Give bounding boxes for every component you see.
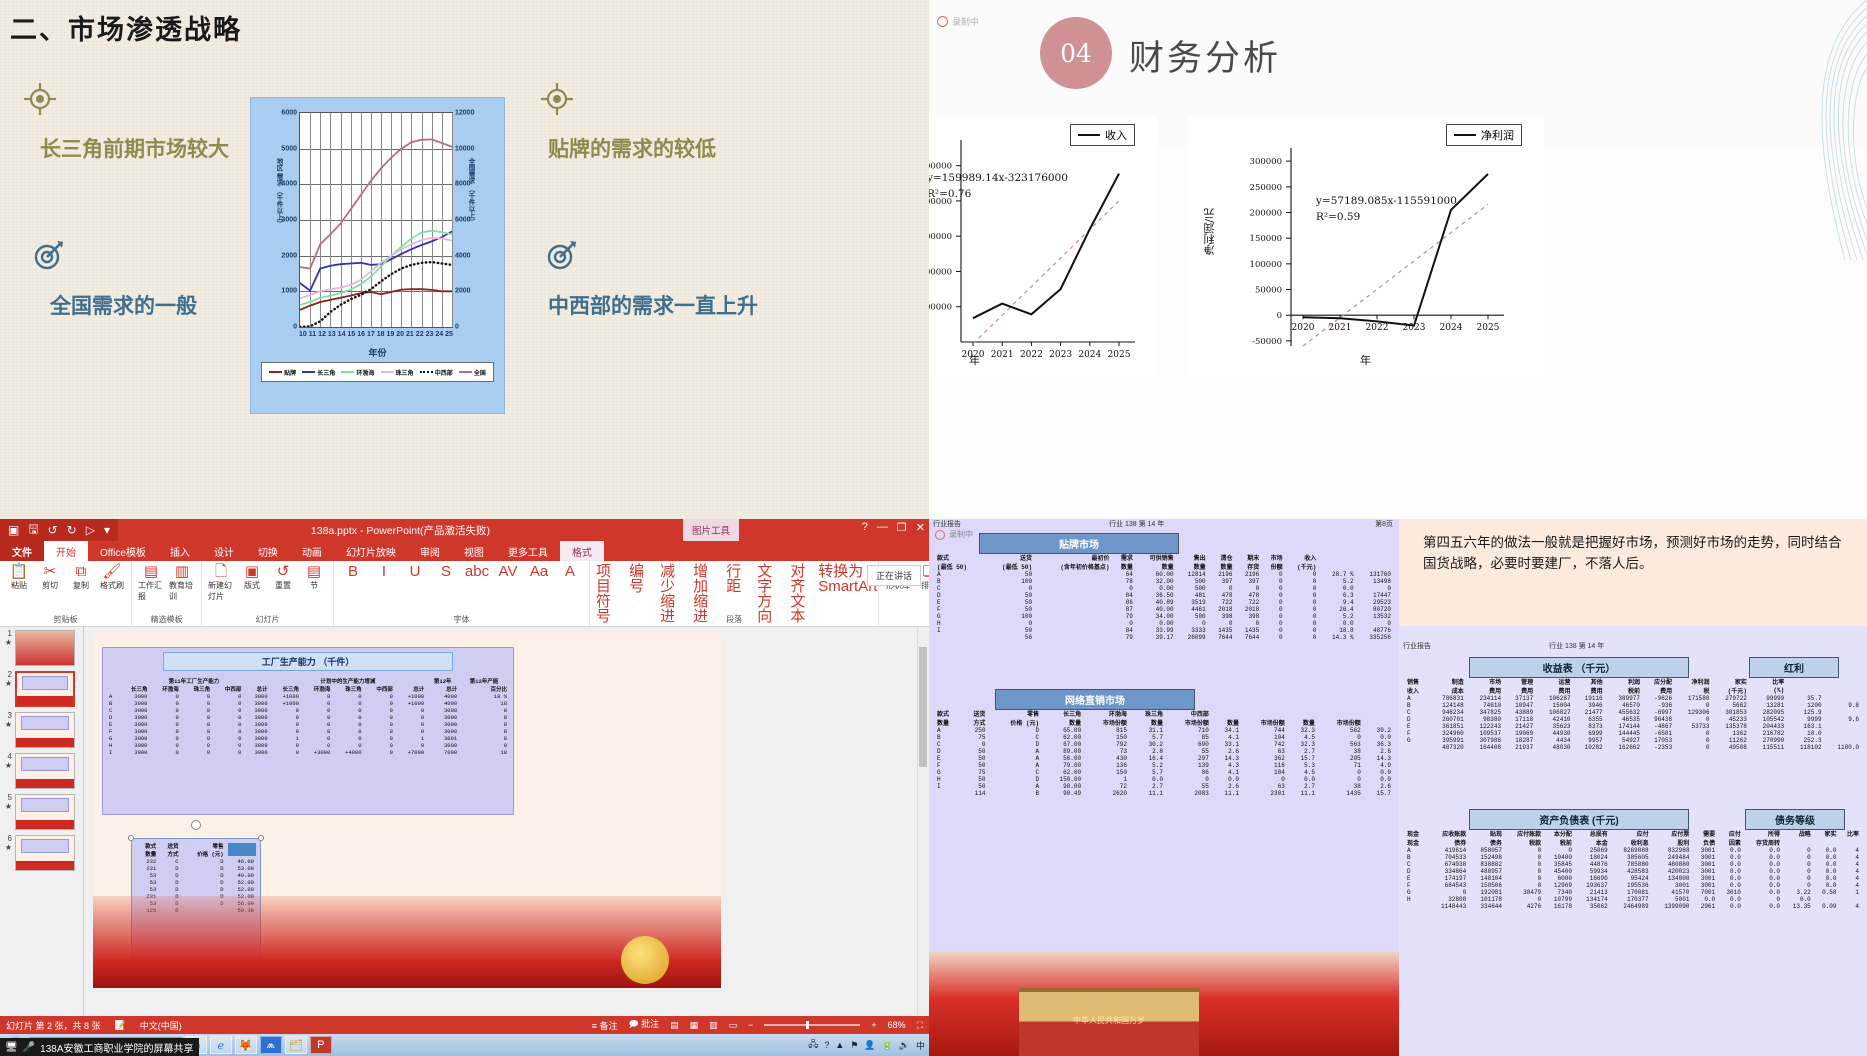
column-header [107,677,118,685]
table-cell: 361851 [1428,723,1465,730]
table-cell: 106287 [1535,695,1572,702]
ribbon-button-行距[interactable]: 行距 [726,564,752,594]
table-cell: 150.00 [1041,776,1083,783]
x-tick-label: 2022 [1020,350,1043,360]
ribbon-button-A[interactable]: A [557,564,583,579]
column-header: 运营 [1535,677,1572,686]
ribbon-button-Aa[interactable]: Aa [526,564,552,579]
table-cell: 0 [332,742,363,749]
canvas-scrollbar[interactable] [917,627,927,1016]
decorative-wave-lines [1747,0,1867,260]
net-profit-plot: -500000500001000001500002000002500003000… [1188,116,1544,376]
column-header: 家实 [1711,677,1748,686]
x-tick-label: 25 [445,331,453,338]
ribbon-tab-设计[interactable]: 设计 [202,541,246,561]
regional-demand-chart: 地区 需求 （千件以上） 全国需求 （千件以上） 010002000300040… [250,97,505,414]
x-tick-label: 2021 [1329,323,1352,333]
column-subheader: 百分比 [459,685,509,693]
table-cell: 430 [1083,755,1129,762]
ribbon-button-版式[interactable]: ▣版式 [239,564,265,591]
rotate-handle[interactable] [191,820,201,830]
ribbon-button-转换为SmartArt[interactable]: 转换为SmartArt [823,564,872,594]
firefox-icon[interactable]: 🦊 [235,1036,257,1054]
battery-icon[interactable]: 🔋 [882,1040,893,1051]
ribbon-tab-更多工具[interactable]: 更多工具 [496,541,560,561]
section-title-tiepai: 贴牌市场 [979,533,1179,554]
comments-button[interactable]: 🗩 批注 [629,1017,660,1033]
spellcheck-icon[interactable]: 📝 [115,1020,126,1031]
view-normal-icon[interactable]: ▤ [670,1020,679,1031]
slide-canvas[interactable]: 工厂生产能力 （千件） 第11年工厂生产能力计划中的生产能力增减第12年第12年… [84,627,929,1016]
table-cell: 32.00 [1135,578,1176,585]
table-cell: 0 [212,700,243,707]
table-cell: 7000 [426,749,459,756]
column-subheader: 珠三角 [181,685,212,693]
powerpoint-icon[interactable]: P [310,1036,332,1054]
ribbon-button-S[interactable]: S [433,564,459,579]
table-cell: 0 [1176,620,1208,627]
notes-button[interactable]: ≡ 备注 [592,1019,618,1032]
system-tray[interactable]: 🖧 ? ▲ ⚑ 👤 🔋 🔊 中 [808,1037,925,1053]
table-cell: 46535 [1605,716,1642,723]
zoom-level[interactable]: 68% [888,1020,906,1030]
ribbon-button-AV[interactable]: AV [495,564,521,579]
show-hidden-icons-icon[interactable]: ▲ [835,1040,844,1050]
table-cell: 2.6 [1363,783,1393,790]
剪切-icon: ✂ [44,564,57,579]
table-cell: 0 [364,749,395,756]
table-cell: B [107,700,118,707]
table-cell: 1200 [1786,702,1823,709]
ribbon-button-abc[interactable]: abc [464,564,490,579]
thumbnail-number: 4 ★ [2,753,12,771]
ribbon-button-教育培训[interactable]: ▥教育培训 [169,564,195,602]
table-cell: 0 [364,742,395,749]
table-cell: 41570 [1651,889,1692,896]
x-tick-label: 2023 [1049,350,1072,360]
table-cell: 0 [301,721,332,728]
start-slideshow-icon[interactable]: ▷ [86,523,95,537]
ribbon-group-字体: BIUSabcAVAaA字体 [334,561,590,626]
thumbnail-6[interactable] [15,835,75,871]
redo-icon[interactable]: ↻ [67,523,77,537]
customize-qat-icon[interactable]: ▾ [104,523,110,537]
ribbon-button-节[interactable]: ▤节 [301,564,327,591]
ribbon-button-B[interactable]: B [340,564,366,579]
table-cell: 3000 [243,721,269,728]
table-cell: 31.1 [1129,727,1165,734]
help-icon[interactable]: ? [824,1040,829,1050]
table-cell: 0 [332,735,363,742]
table-cell: 99999 [1749,695,1786,702]
view-sorter-icon[interactable]: ▦ [690,1020,699,1031]
chart-plot-area: 0100020003000400050006000020004000600080… [299,112,453,328]
table-cell: 18287 [1503,737,1535,744]
thumbnail-4[interactable] [15,753,75,789]
column-subheader: 数量 [1208,562,1235,571]
quick-access-toolbar[interactable]: ▣ 🖫 ↺ ↻ ▷ ▾ [0,519,118,541]
table-cell: 0.0 [1782,896,1813,903]
slide-counter: 幻灯片 第 2 张，共 8 张 [6,1019,101,1032]
thumbnail-row[interactable]: 1 ★ [2,630,83,666]
y-tick-label: -50000 [1252,337,1282,347]
thumbnail-number: 5 ★ [2,794,12,812]
table-cell: +7000 [395,749,426,756]
table-cell: 71 [1317,762,1363,769]
table-cell: D [935,592,985,599]
ribbon[interactable]: 📋粘贴✂剪切⧉复制🖌格式刷剪贴板▤工作汇报▥教育培训精选模板🗋新建幻灯片▣版式↺… [0,561,929,627]
ribbon-tab-开始[interactable]: 开始 [44,541,88,561]
table-cell: 90.49 [1041,790,1083,797]
column-header: 应分配 [1642,677,1674,686]
table-cell: 0 [149,728,180,735]
table-row: B1007832.00500397397005.213498 [935,578,1393,585]
thumbnail-1[interactable] [15,630,75,666]
user-icon[interactable]: 👤 [864,1040,875,1051]
table-cell: 0 [1285,627,1319,634]
slide-market-penetration: 二、市场渗透战略 长三角前期市场较大 贴牌的需求的较低 全国需求的一般 中西部的… [0,0,929,519]
thumbnail-5[interactable] [15,794,75,830]
ribbon-tab-审阅[interactable]: 审阅 [408,541,452,561]
table-cell: 0 [1208,620,1235,627]
table-cell: 0 [1285,613,1319,620]
ribbon-tab-幻灯片放映[interactable]: 幻灯片放映 [334,541,408,561]
view-reading-icon[interactable]: ▥ [709,1020,718,1031]
table-cell: 21477 [1573,709,1605,716]
table-cell: 0 [149,749,180,756]
language-label[interactable]: 中文(中国) [140,1019,182,1032]
table-cell: -6501 [1642,730,1674,737]
column-header: 净利润 [1674,677,1711,686]
table-cell: 114 [961,790,987,797]
current-slide[interactable]: 工厂生产能力 （千件） 第11年工厂生产能力计划中的生产能力增减第12年第12年… [93,633,721,988]
table-cell: 335256 [1356,634,1393,641]
close-button[interactable]: ✕ [916,521,925,534]
table-row: F32496010953719069449306999144445-650101… [1405,730,1861,737]
ribbon-tab-文件[interactable]: 文件 [0,541,44,561]
x-tick-label: 2024 [1440,323,1463,333]
table-cell: 10.0 [1786,730,1823,737]
table-cell: 0 [149,735,180,742]
thumbnail-row[interactable]: 3 ★ [2,712,83,748]
legend-label: 净利润 [1481,127,1514,143]
column-subheader: 总计 [395,685,426,693]
table-cell: 3000 [118,707,149,714]
direct-sales-table: 款式送货零售长三角环渤海珠三角中西部数量方式价格 (元)数量市场份额数量市场份额… [935,709,1393,797]
table-cell: 3000 [118,749,149,756]
thumbnail-row[interactable]: 5 ★ [2,794,83,830]
table-cell: 49508 [1711,744,1748,751]
ribbon-button-粘贴[interactable]: 📋粘贴 [6,564,32,591]
x-tick-label: 19 [387,331,395,338]
table-cell [1813,896,1839,903]
table-cell: 3000 [426,728,459,735]
save-icon[interactable]: 🖫 [28,520,38,541]
table-cell: 0 [1504,875,1543,882]
table-cell: 0 [1504,847,1543,854]
table-cell: 9957 [1573,737,1605,744]
table-cell: 6.3 [1318,592,1355,599]
column-subheader: 价格 (元) [181,850,226,858]
section-title-hongli: 红利 [1749,657,1839,678]
table-subheader-row: 现金债券债务税款税前本金收利息股利负债因素存货周转 [1405,838,1861,847]
x-tick-label: 24 [435,331,443,338]
recording-indicator: 录制中 [937,15,979,28]
table-cell: 249484 [1651,854,1692,861]
table-cell: 0.0 [1211,776,1241,783]
column-header: 需求 [1112,553,1135,562]
table-cell: 0 [1285,592,1319,599]
legend-label: 收入 [1105,127,1127,143]
table-cell: 38479 [1504,889,1543,896]
thumbnail-3[interactable] [15,712,75,748]
table-cell: 3.22 [1782,889,1813,896]
table-cell: 0 [364,728,395,735]
table-cell: D [158,886,180,893]
x-tick-label: 22 [416,331,424,338]
table-cell: 324960 [1428,730,1465,737]
table-cell: D [987,776,1041,783]
column-header: 期末 [1234,553,1261,562]
table-row: 567939.1726099764476440014.3 %335256 [935,634,1393,641]
table-cell: 44876 [1574,861,1610,868]
table-cell: D [935,748,961,755]
ribbon-button-工作汇报[interactable]: ▤工作汇报 [138,564,164,602]
table-cell: 8 [459,707,509,714]
thumbnail-number: 1 ★ [2,630,12,648]
ribbon-tab-格式[interactable]: 格式 [560,541,604,561]
x-tick-label: 12 [318,331,326,338]
table-cell: 710 [1165,727,1211,734]
column-subheader: 数量 [1211,718,1241,727]
minimize-button[interactable]: — [877,521,888,534]
volume-icon[interactable]: 🔊 [899,1040,910,1051]
legend-line-icon [1078,134,1100,136]
thumbnail-row[interactable]: 6 ★ [2,835,83,871]
restore-button[interactable]: ❐ [897,521,907,534]
table-cell: 4 [1839,861,1862,868]
column-subheader: (含年初价格基点) [1034,562,1111,571]
table-cell: 1435 [1234,627,1261,634]
ribbon-button-label: 教育培训 [169,580,195,602]
ribbon-tab-Office模板[interactable]: Office模板 [88,541,158,561]
table-cell: 109537 [1466,730,1503,737]
ribbon-button-新建幻灯片[interactable]: 🗋新建幻灯片 [208,564,234,602]
table-cell: B [1405,702,1428,709]
table-cell: 11.1 [1211,790,1241,797]
powerpoint-logo-icon: ▣ [8,523,19,537]
thumbnail-row[interactable]: 2 ★ [2,671,83,707]
table-cell: 0.0 [1717,896,1743,903]
table-cell: 14.3 % [1318,634,1355,641]
column-header: 比率 [1749,677,1786,686]
ribbon-tabs[interactable]: 文件开始Office模板插入设计切换动画幻灯片放映审阅视图更多工具格式 [0,541,929,561]
help-button[interactable]: ? [862,521,868,534]
table-cell: 4.5 [1287,769,1317,776]
label: 行距 [726,564,752,594]
ribbon-button-格式刷[interactable]: 🖌格式刷 [99,564,125,591]
network-icon[interactable]: 🖧 [808,1037,818,1053]
scrollbar-thumb[interactable] [919,647,927,767]
label: S [441,564,451,579]
table-header-row: 现金应收账款贴现应付账款本分配总损有应付应付票需要应付所得战略家实比率 [1405,829,1861,838]
zoom-out-button[interactable]: − [748,1020,753,1030]
table-row: F50A79.001365.21394.31165.3714.9 [935,762,1393,769]
ribbon-button-复制[interactable]: ⧉复制 [68,564,94,591]
language-icon[interactable]: 中 [916,1039,925,1052]
ribbon-tab-动画[interactable]: 动画 [290,541,334,561]
table-cell: 0 [364,721,395,728]
table-cell: 0 [1165,776,1211,783]
table-cell: 0.00 [1135,585,1176,592]
table-cell: 481 [1176,592,1208,599]
table-cell: 0 [1504,868,1543,875]
legend-item-环渤海: 环渤海 [341,368,374,377]
ribbon-button-重置[interactable]: ↺重置 [270,564,296,591]
table-cell: 3946 [1573,702,1605,709]
table-cell: 56 [985,634,1035,641]
table-cell: 0 [1261,578,1284,585]
column-subheader: 份额 [1261,562,1284,571]
table-cell: 722 [1234,599,1261,606]
table-cell: 205 [1317,755,1363,762]
table-cell: 50 [985,627,1035,634]
table-cell: 0 [1241,776,1287,783]
table-cell: 53 [136,872,158,879]
table-cell: 35062 [1574,903,1610,910]
table-cell: 786831 [1428,695,1465,702]
netease-icon[interactable]: ⩕ [260,1036,282,1054]
table-cell: 478 [1234,592,1261,599]
table-cell: 4 [1839,847,1862,854]
flag-icon[interactable]: ⚑ [850,1040,858,1051]
table-cell: 192081 [1468,889,1504,896]
table-cell: 152498 [1468,854,1504,861]
column-subheader: 股利 [1651,838,1692,847]
ribbon-button-编号[interactable]: 编号 [629,564,655,594]
column-subheader: 债券 [1427,838,1468,847]
ribbon-button-label: 重置 [275,580,291,591]
table-cell: I [935,783,961,790]
series-全国 [300,139,452,268]
table-cell: 4000 [426,700,459,707]
ribbon-tab-插入[interactable]: 插入 [158,541,202,561]
zoom-slider[interactable] [764,1024,860,1026]
table-cell: 8373 [1573,723,1605,730]
ribbon-group-段落: 项目符号编号减少缩进增加缩进行距文字方向对齐文本转换为SmartArt段落 [590,561,879,626]
internet-explorer-icon[interactable]: ℯ [210,1036,232,1054]
table-row: 232CD46.00 [136,858,256,865]
table-cell: 11.1 [1287,790,1317,797]
ribbon-group-剪贴板: 📋粘贴✂剪切⧉复制🖌格式刷剪贴板 [0,561,132,626]
target-crosshair-icon [23,82,57,116]
table-cell: 3000 [118,714,149,721]
table-cell: 4 [1839,854,1862,861]
table-cell: 674038 [1427,861,1468,868]
resize-handle-nw[interactable] [128,835,134,841]
ribbon-tab-切换[interactable]: 切换 [246,541,290,561]
resize-handle-ne[interactable] [258,835,264,841]
thumbnail-row[interactable]: 4 ★ [2,753,83,789]
dart-target-icon [545,238,579,272]
column-header: 款式 [136,842,158,850]
table-cell: I [107,749,118,756]
ribbon-button-剪切[interactable]: ✂剪切 [37,564,63,591]
table-cell: 150 [1083,769,1129,776]
table-cell: H [1405,896,1427,903]
ribbon-button-U[interactable]: U [402,564,428,579]
slide-table-capacity[interactable]: 工厂生产能力 （千件） 第11年工厂生产能力计划中的生产能力增减第12年第12年… [102,647,514,815]
table-cell: C [987,769,1041,776]
table-cell: 0 [1317,734,1363,741]
zoom-in-button[interactable]: + [871,1020,876,1030]
status-bar[interactable]: 幻灯片 第 2 张，共 8 张 📝 中文(中国) ≡ 备注 🗩 批注 ▤ ▦ ▥… [0,1016,929,1034]
table-cell: 0 [270,749,301,756]
table-cell: 34.00 [1135,613,1176,620]
table-cell: 0 [395,714,426,721]
table-cell: 7340 [1543,889,1574,896]
thumbnail-2[interactable] [15,671,75,707]
table-cell: 21413 [1574,889,1610,896]
ribbon-button-I[interactable]: I [371,564,397,579]
table-cell: 21937 [1503,744,1535,751]
table-row: 53DD49.00 [136,872,256,879]
powerpoint-window[interactable]: ▣ 🖫 ↺ ↻ ▷ ▾ 138a.pptx - PowerPoint(产品激活失… [0,519,929,1056]
ribbon-button-label: 节 [310,580,318,591]
undo-icon[interactable]: ↺ [48,523,58,537]
table-cell: 0 [301,693,332,700]
ribbon-tab-视图[interactable]: 视图 [452,541,496,561]
fit-to-window-icon[interactable]: ⛶ [917,1020,923,1031]
table-cell: 0 [364,714,395,721]
zoom-slider-knob[interactable] [806,1021,809,1029]
table-cell: 18024 [1574,854,1610,861]
table-cell: +1000 [270,693,301,700]
table-cell: 0 [395,721,426,728]
slide-thumbnail-pane[interactable]: 1 ★2 ★3 ★4 ★5 ★6 ★ [0,627,84,1016]
table-cell: 0 [364,700,395,707]
table-cell: 704533 [1427,854,1468,861]
table-cell: A [1405,695,1428,702]
trend-line [973,201,1119,344]
table-cell: 0 [1674,744,1711,751]
table-cell: 0 [1782,861,1813,868]
chart-series-group [300,113,452,327]
window-buttons[interactable]: ? — ❐ ✕ [862,521,925,534]
table-cell: 3000 [426,707,459,714]
table-cell: E [1405,875,1427,882]
table-cell: C [935,585,985,592]
table-cell: B [1405,854,1427,861]
ribbon-group-label: 精选模板 [132,614,201,625]
table-cell: 3001 [1651,882,1692,889]
ribbon-group-label: 幻灯片 [202,614,333,625]
table-cell: 95424 [1610,875,1651,882]
table-cell: 50 [961,762,987,769]
table-row: 231DD53.00 [136,865,256,872]
table-cell: 9.8 [1824,702,1861,709]
column-subheader: (最低 50) [935,562,985,571]
legend-item-珠三角: 珠三角 [381,368,414,377]
x-tick-label: 2020 [1292,323,1315,333]
x-tick-label: 2022 [1366,323,1389,333]
y-tick-label: 200000 [1250,208,1282,218]
folder-icon[interactable]: 🗂 [285,1036,307,1054]
column-header: 收入 [1285,553,1319,562]
view-slideshow-icon[interactable]: ▭ [729,1020,738,1031]
table-cell: 0 [270,714,301,721]
table-cell: 0 [961,741,987,748]
